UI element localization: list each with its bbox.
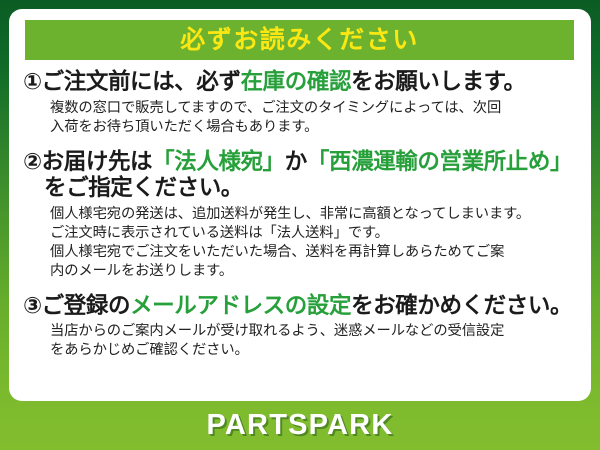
body-line: 個人様宅宛でご注文をいただいた場合、送料を再計算しあらためてご案 — [50, 243, 579, 262]
list-item-body: 当店からのご案内メールが受け取れるよう、迷惑メールなどの受信設定 をあらかじめご… — [23, 322, 579, 360]
heading-text-plain: か — [285, 149, 307, 174]
notice-card: 必ずお読みください ①ご注文前には、必ず在庫の確認をお願いします。 複数の窓口で… — [9, 9, 591, 401]
notice-banner: 必ずお読みください ①ご注文前には、必ず在庫の確認をお願いします。 複数の窓口で… — [0, 0, 600, 450]
list-item-body: 複数の窓口で販売してますので、ご注文のタイミングによっては、次回 入荷をお待ち頂… — [23, 99, 579, 137]
heading-text-plain: をお願いします。 — [351, 69, 526, 94]
list-item-heading: ③ご登録のメールアドレスの設定をお確かめください。 — [23, 293, 579, 320]
list-item-heading-line2: をご指定ください。 — [23, 175, 579, 202]
heading-text-highlight: 「法人様宛」 — [152, 149, 285, 174]
list-item: ②お届け先は「法人様宛」か「西濃運輸の営業所止め」 をご指定ください。 個人様宅… — [9, 149, 591, 282]
body-line: ご注文時に表示されている送料は「法人送料」です。 — [50, 224, 579, 243]
body-line: 当店からのご案内メールが受け取れるよう、迷惑メールなどの受信設定 — [50, 322, 579, 341]
heading-text-plain: をお確かめください。 — [351, 293, 572, 318]
list-item-marker: ② — [23, 149, 42, 174]
heading-text-highlight: メールアドレスの設定 — [130, 293, 351, 318]
body-line: 入荷をお待ち頂いただく場合もあります。 — [50, 118, 579, 137]
body-line: をあらかじめご確認ください。 — [50, 341, 579, 360]
page-title: 必ずお読みください — [180, 28, 419, 53]
heading-text-highlight: 「西濃運輸の営業所止め」 — [307, 149, 572, 174]
heading-text-plain: ご注文前には、必ず — [42, 69, 241, 94]
list-item-body: 個人様宅宛の発送は、追加送料が発生し、非常に高額となってしまいます。 ご注文時に… — [23, 205, 579, 282]
header-bar: 必ずお読みください — [25, 20, 574, 60]
body-line: 個人様宅宛の発送は、追加送料が発生し、非常に高額となってしまいます。 — [50, 205, 579, 224]
heading-text-highlight: 在庫の確認 — [241, 69, 352, 94]
heading-text-plain: ご登録の — [42, 293, 130, 318]
body-line: 複数の窓口で販売してますので、ご注文のタイミングによっては、次回 — [50, 99, 579, 118]
footer-band: PARTSPARK — [0, 401, 600, 450]
list-item-marker: ③ — [23, 293, 42, 318]
list-item-heading: ①ご注文前には、必ず在庫の確認をお願いします。 — [23, 69, 579, 96]
heading-text-plain: お届け先は — [42, 149, 153, 174]
list-item-marker: ① — [23, 69, 42, 94]
notice-list: ①ご注文前には、必ず在庫の確認をお願いします。 複数の窓口で販売してますので、ご… — [9, 69, 591, 360]
brand-logo: PARTSPARK — [207, 411, 394, 440]
list-item-heading: ②お届け先は「法人様宛」か「西濃運輸の営業所止め」 — [23, 149, 579, 176]
list-item: ③ご登録のメールアドレスの設定をお確かめください。 当店からのご案内メールが受け… — [9, 293, 591, 361]
list-item: ①ご注文前には、必ず在庫の確認をお願いします。 複数の窓口で販売してますので、ご… — [9, 69, 591, 137]
body-line: 内のメールをお送りします。 — [50, 262, 579, 281]
